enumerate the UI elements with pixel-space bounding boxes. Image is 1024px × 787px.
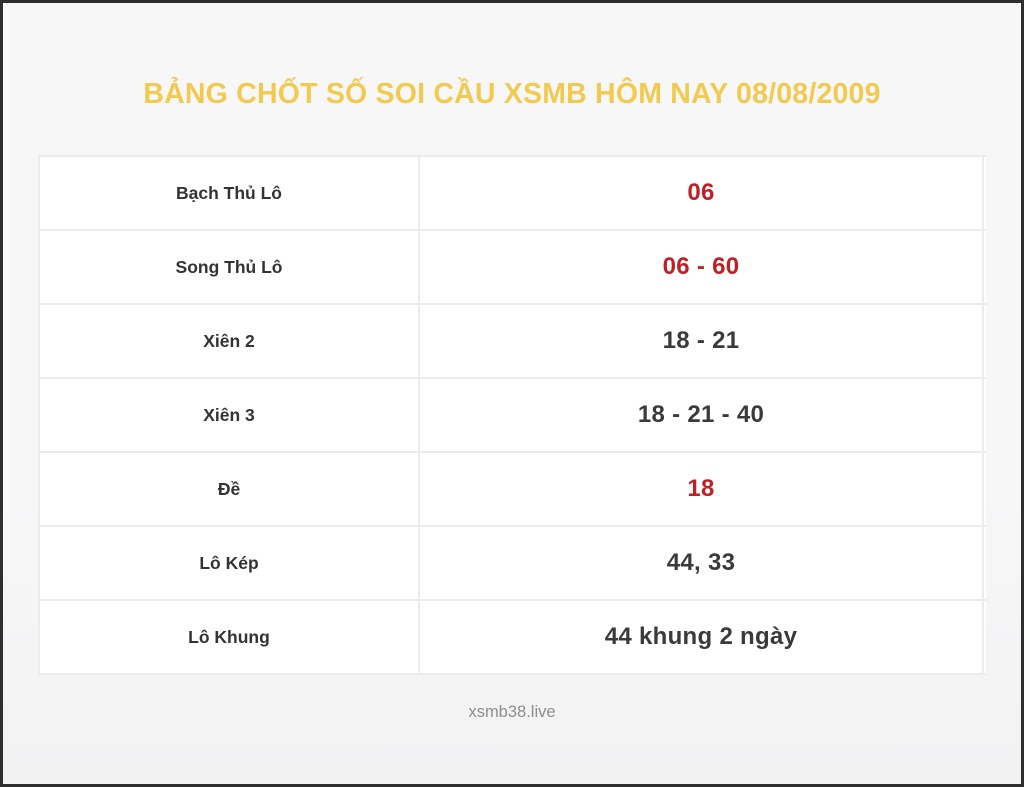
row-value: 18 xyxy=(420,453,984,525)
prediction-table: Bạch Thủ Lô 06 Song Thủ Lô 06 - 60 Xiên … xyxy=(38,155,986,675)
row-label: Đề xyxy=(40,453,420,525)
row-label: Xiên 2 xyxy=(40,305,420,377)
row-label: Xiên 3 xyxy=(40,379,420,451)
row-value: 18 - 21 - 40 xyxy=(420,379,984,451)
row-value: 06 xyxy=(420,157,984,229)
table-row: Đề 18 xyxy=(40,453,986,527)
row-label: Song Thủ Lô xyxy=(40,231,420,303)
row-value: 44 khung 2 ngày xyxy=(420,601,984,673)
content-area: BẢNG CHỐT SỐ SOI CẦU XSMB HÔM NAY 08/08/… xyxy=(3,3,1021,784)
row-value: 18 - 21 xyxy=(420,305,984,377)
table-row: Xiên 3 18 - 21 - 40 xyxy=(40,379,986,453)
footer: xsmb38.live xyxy=(38,703,986,722)
table-row: Xiên 2 18 - 21 xyxy=(40,305,986,379)
row-label: Bạch Thủ Lô xyxy=(40,157,420,229)
table-row: Lô Kép 44, 33 xyxy=(40,527,986,601)
table-row: Bạch Thủ Lô 06 xyxy=(40,157,986,231)
table-row: Song Thủ Lô 06 - 60 xyxy=(40,231,986,305)
site-watermark: xsmb38.live xyxy=(468,703,555,721)
table-row: Lô Khung 44 khung 2 ngày xyxy=(40,601,986,675)
page-title-container: BẢNG CHỐT SỐ SOI CẦU XSMB HÔM NAY 08/08/… xyxy=(38,79,986,110)
row-label: Lô Kép xyxy=(40,527,420,599)
row-label: Lô Khung xyxy=(40,601,420,673)
row-value: 06 - 60 xyxy=(420,231,984,303)
row-value: 44, 33 xyxy=(420,527,984,599)
page-title: BẢNG CHỐT SỐ SOI CẦU XSMB HÔM NAY 08/08/… xyxy=(38,79,986,110)
page-canvas: BẢNG CHỐT SỐ SOI CẦU XSMB HÔM NAY 08/08/… xyxy=(3,3,1021,784)
